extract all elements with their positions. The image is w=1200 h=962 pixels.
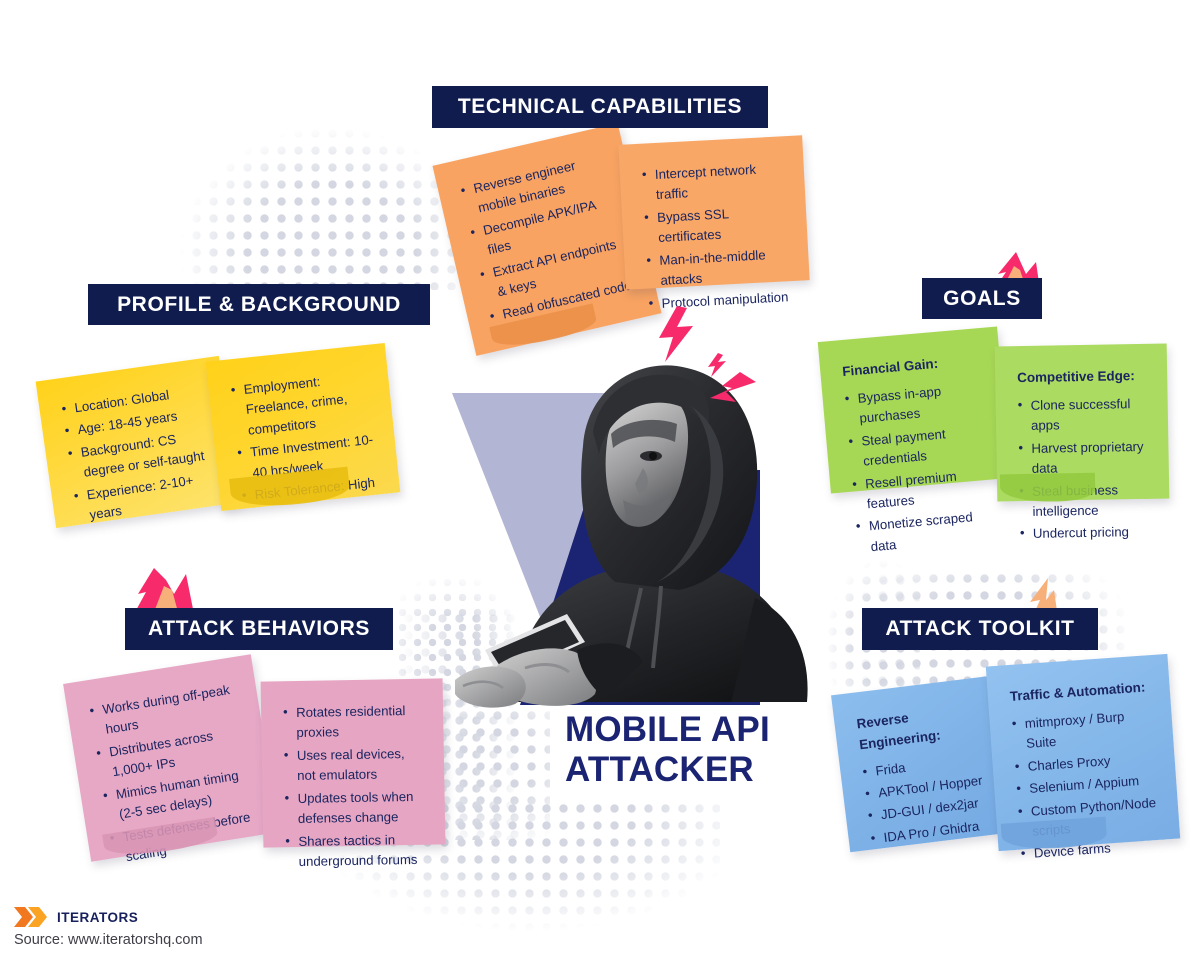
note-attack-behaviors-2: Rotates residential proxies Uses real de… — [261, 678, 446, 847]
note-list: Rotates residential proxies Uses real de… — [283, 701, 426, 873]
infographic-canvas: TECHNICAL CAPABILITIES Reverse engineer … — [0, 0, 1200, 962]
iterators-logo-icon — [14, 906, 48, 928]
section-header-label: TECHNICAL CAPABILITIES — [458, 95, 742, 119]
list-item: Uses real devices, not emulators — [284, 744, 425, 787]
list-item: Shares tactics in underground forums — [285, 829, 426, 872]
note-heading: Reverse Engineering: — [856, 698, 996, 756]
list-item: Rotates residential proxies — [283, 701, 424, 744]
page-title-text: MOBILE API ATTACKER — [565, 710, 770, 789]
list-item: Intercept network traffic — [641, 158, 785, 206]
lightning-bolt-medium-icon — [710, 372, 758, 402]
section-header-label: GOALS — [943, 287, 1021, 311]
brand-row: ITERATORS — [14, 906, 203, 928]
brand-name: ITERATORS — [57, 910, 138, 925]
note-attack-behaviors-1: Works during off-peak hours Distributes … — [63, 654, 279, 862]
section-header-label: ATTACK TOOLKIT — [885, 617, 1074, 641]
list-item: Employment: Freelance, crime, competitor… — [230, 367, 374, 442]
section-header-profile-background: PROFILE & BACKGROUND — [88, 284, 430, 325]
note-list: Frida APKTool / Hopper JD-GUI / dex2jar … — [861, 746, 1007, 850]
note-fold — [1000, 473, 1095, 503]
list-item: mitmproxy / Burp Suite — [1011, 705, 1154, 756]
section-header-technical-capabilities: TECHNICAL CAPABILITIES — [432, 86, 768, 128]
list-item: Updates tools when defenses change — [284, 787, 425, 830]
page-title: MOBILE API ATTACKER — [565, 710, 825, 790]
footer: ITERATORS Source: www.iteratorshq.com — [14, 906, 203, 948]
note-profile-background-2: Employment: Freelance, crime, competitor… — [206, 343, 401, 511]
note-heading: Traffic & Automation: — [1009, 677, 1150, 707]
section-header-goals: GOALS — [922, 278, 1042, 319]
lightning-bolt-large-icon — [655, 306, 695, 362]
source-line: Source: www.iteratorshq.com — [14, 932, 203, 948]
note-attack-toolkit-2: Traffic & Automation: mitmproxy / Burp S… — [986, 654, 1180, 851]
note-list: Clone successful apps Harvest proprietar… — [1018, 394, 1151, 545]
section-header-attack-behaviors: ATTACK BEHAVIORS — [125, 608, 393, 650]
note-list: Bypass in-app purchases Steal payment cr… — [844, 378, 996, 559]
note-heading: Competitive Edge: — [1017, 366, 1147, 389]
note-goals-2: Competitive Edge: Clone successful apps … — [995, 344, 1170, 502]
list-item: Undercut pricing — [1020, 522, 1150, 545]
list-item: Bypass SSL certificates — [644, 201, 788, 249]
section-header-attack-toolkit: ATTACK TOOLKIT — [862, 608, 1098, 650]
note-goals-1: Financial Gain: Bypass in-app purchases … — [818, 326, 1011, 493]
note-list: Intercept network traffic Bypass SSL cer… — [641, 158, 791, 314]
list-item: Clone successful apps — [1018, 394, 1149, 437]
section-header-label: ATTACK BEHAVIORS — [148, 617, 370, 641]
list-item: Man-in-the-middle attacks — [646, 244, 790, 292]
dot-pattern-top-left — [120, 40, 460, 290]
hooded-attacker-illustration — [455, 350, 835, 710]
note-technical-capabilities-2: Intercept network traffic Bypass SSL cer… — [618, 135, 809, 289]
section-header-label: PROFILE & BACKGROUND — [117, 293, 401, 317]
note-list: Reverse engineer mobile binaries Decompi… — [459, 149, 637, 328]
note-heading: Financial Gain: — [842, 350, 981, 383]
note-list: Location: Global Age: 18-45 years Backgr… — [60, 380, 220, 527]
